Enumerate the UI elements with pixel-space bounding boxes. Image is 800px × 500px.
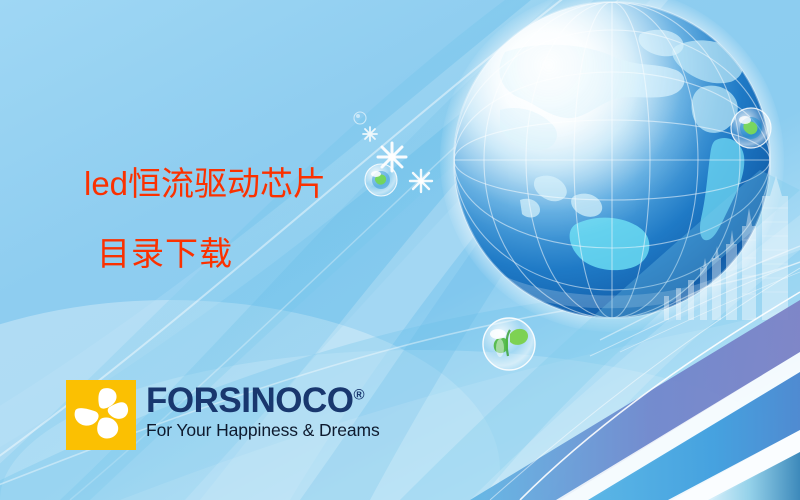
headline-line-2: 目录下载 (97, 234, 326, 274)
logo-mark-square (66, 380, 136, 450)
company-logo: FORSINOCO® For Your Happiness & Dreams (66, 380, 380, 450)
logo-wordmark-text: FORSINOCO (146, 381, 353, 420)
slide-canvas: led恒流驱动芯片 目录下载 FORSINOCO® For Your Happi… (0, 0, 800, 500)
logo-wordmark: FORSINOCO® (146, 383, 380, 419)
sparkle-large (375, 140, 409, 174)
bubble-globe-top-right (731, 108, 771, 148)
headline-line-1: led恒流驱动芯片 (84, 164, 326, 204)
bubble-leaf (483, 318, 535, 370)
bubble-small-upper (354, 112, 366, 124)
headline-block: led恒流驱动芯片 目录下载 (84, 164, 326, 274)
world-globe (440, 0, 784, 332)
city-skyline-silhouette (664, 176, 788, 320)
four-petal-pinwheel-icon (66, 380, 136, 450)
sparkle-small (408, 168, 434, 194)
logo-text-block: FORSINOCO® For Your Happiness & Dreams (146, 380, 380, 440)
city-skyline-lines (742, 208, 788, 294)
corner-band-group (470, 268, 800, 500)
registered-trademark-icon: ® (353, 386, 364, 403)
sparkle-tiny (362, 126, 378, 142)
logo-tagline: For Your Happiness & Dreams (146, 420, 380, 440)
